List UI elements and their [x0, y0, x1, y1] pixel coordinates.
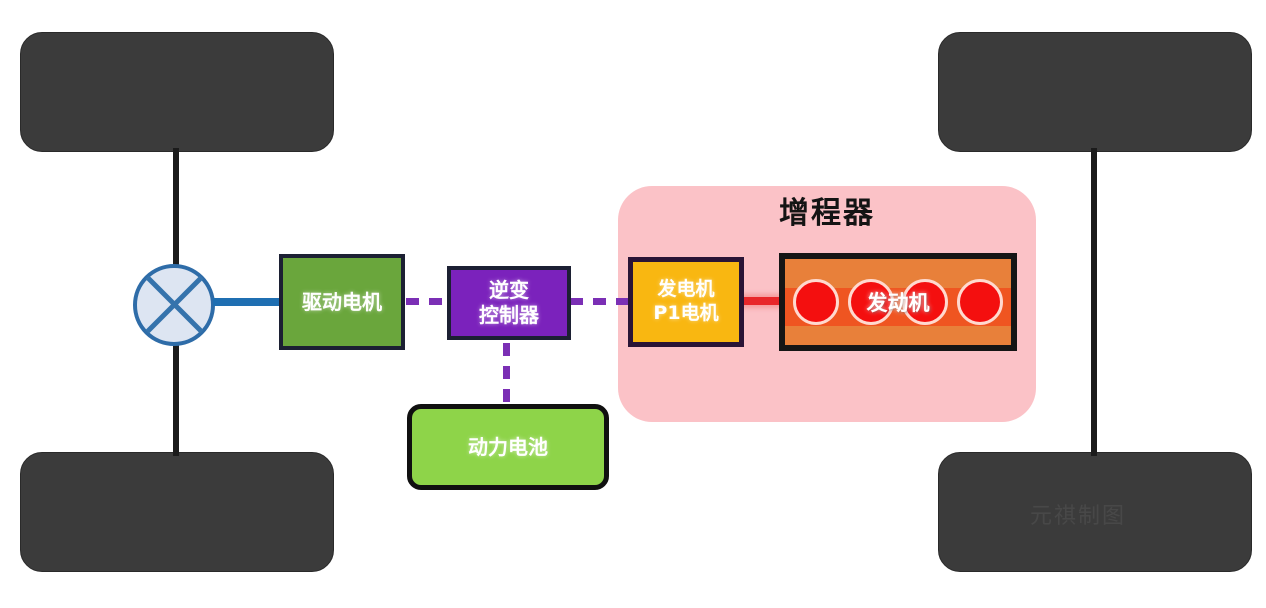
- differential-crossed-circle-icon: [133, 264, 215, 346]
- range-extender-title: 增程器: [618, 192, 1036, 236]
- watermark: 元祺制图: [1030, 498, 1126, 530]
- generator-p1-motor-box[interactable]: 发电机 P1电机: [628, 257, 744, 347]
- wheel-rear-left: [20, 452, 334, 572]
- cross-icon: [137, 268, 211, 342]
- axle-right: [1091, 148, 1097, 456]
- generator-label-line2: P1电机: [653, 302, 718, 324]
- link-generator-engine: [742, 297, 784, 305]
- wheel-front-right: [938, 32, 1252, 152]
- generator-label: 发电机 P1电机: [653, 278, 718, 326]
- link-inverter-battery: [503, 343, 510, 405]
- power-battery-box[interactable]: 动力电池: [407, 404, 609, 490]
- link-differential-drive-motor: [213, 298, 283, 306]
- generator-label-line1: 发电机: [657, 278, 714, 300]
- inverter-controller-box[interactable]: 逆变 控制器: [447, 266, 571, 340]
- diagram-canvas: 增程器 驱动电机 逆变 控制器 动力电池 发电机 P1电机: [0, 0, 1266, 608]
- drive-motor-box[interactable]: 驱动电机: [279, 254, 405, 350]
- link-inverter-generator: [570, 298, 632, 305]
- inverter-label-line1: 逆变: [489, 278, 529, 302]
- inverter-label: 逆变 控制器: [479, 278, 539, 328]
- power-battery-label: 动力电池: [468, 435, 548, 460]
- engine-box[interactable]: 发动机: [779, 253, 1017, 351]
- wheel-front-left: [20, 32, 334, 152]
- drive-motor-label: 驱动电机: [302, 290, 382, 315]
- inverter-label-line2: 控制器: [479, 303, 539, 327]
- engine-label: 发动机: [785, 259, 1011, 345]
- link-drive-motor-inverter: [406, 298, 450, 305]
